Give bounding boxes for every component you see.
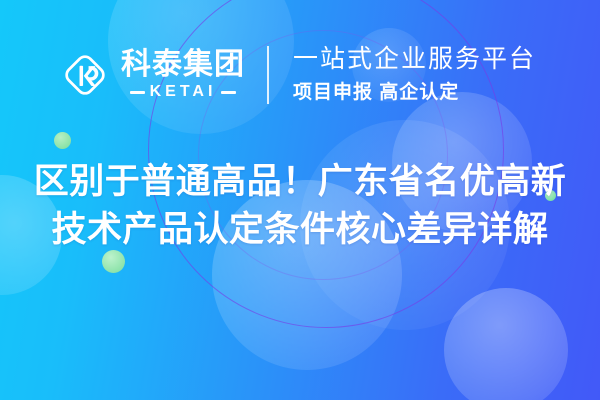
brand-name-en-row: KETAI [130,84,237,100]
headline-line-1: 区别于普通高品！广东省名优高新 [0,158,600,206]
decorative-green-dot [54,132,71,149]
brand-name-cn: 科泰集团 [121,50,245,80]
headline-line-2: 技术产品认定条件核心差异详解 [0,206,600,254]
headline: 区别于普通高品！广东省名优高新 技术产品认定条件核心差异详解 [0,158,600,255]
wordmark-rule-left [130,91,145,94]
wordmark-rule-right [221,91,236,94]
promo-banner: 科泰集团 KETAI 一站式企业服务平台 项目申报 高企认定 区别于普通高品！广… [0,0,600,400]
tagline-primary: 一站式企业服务平台 [293,45,536,75]
banner-header: 科泰集团 KETAI 一站式企业服务平台 项目申报 高企认定 [0,36,600,114]
brand-wordmark: 科泰集团 KETAI [121,50,245,100]
tagline-block: 一站式企业服务平台 项目申报 高企认定 [293,45,536,104]
brand-name-en: KETAI [150,84,217,100]
ketai-diamond-kp-logo-icon [58,48,112,102]
tagline-secondary: 项目申报 高企认定 [293,81,536,105]
decorative-circle-bottom-right [444,288,568,400]
brand-logo[interactable]: 科泰集团 KETAI [58,48,245,102]
header-divider [267,46,269,104]
